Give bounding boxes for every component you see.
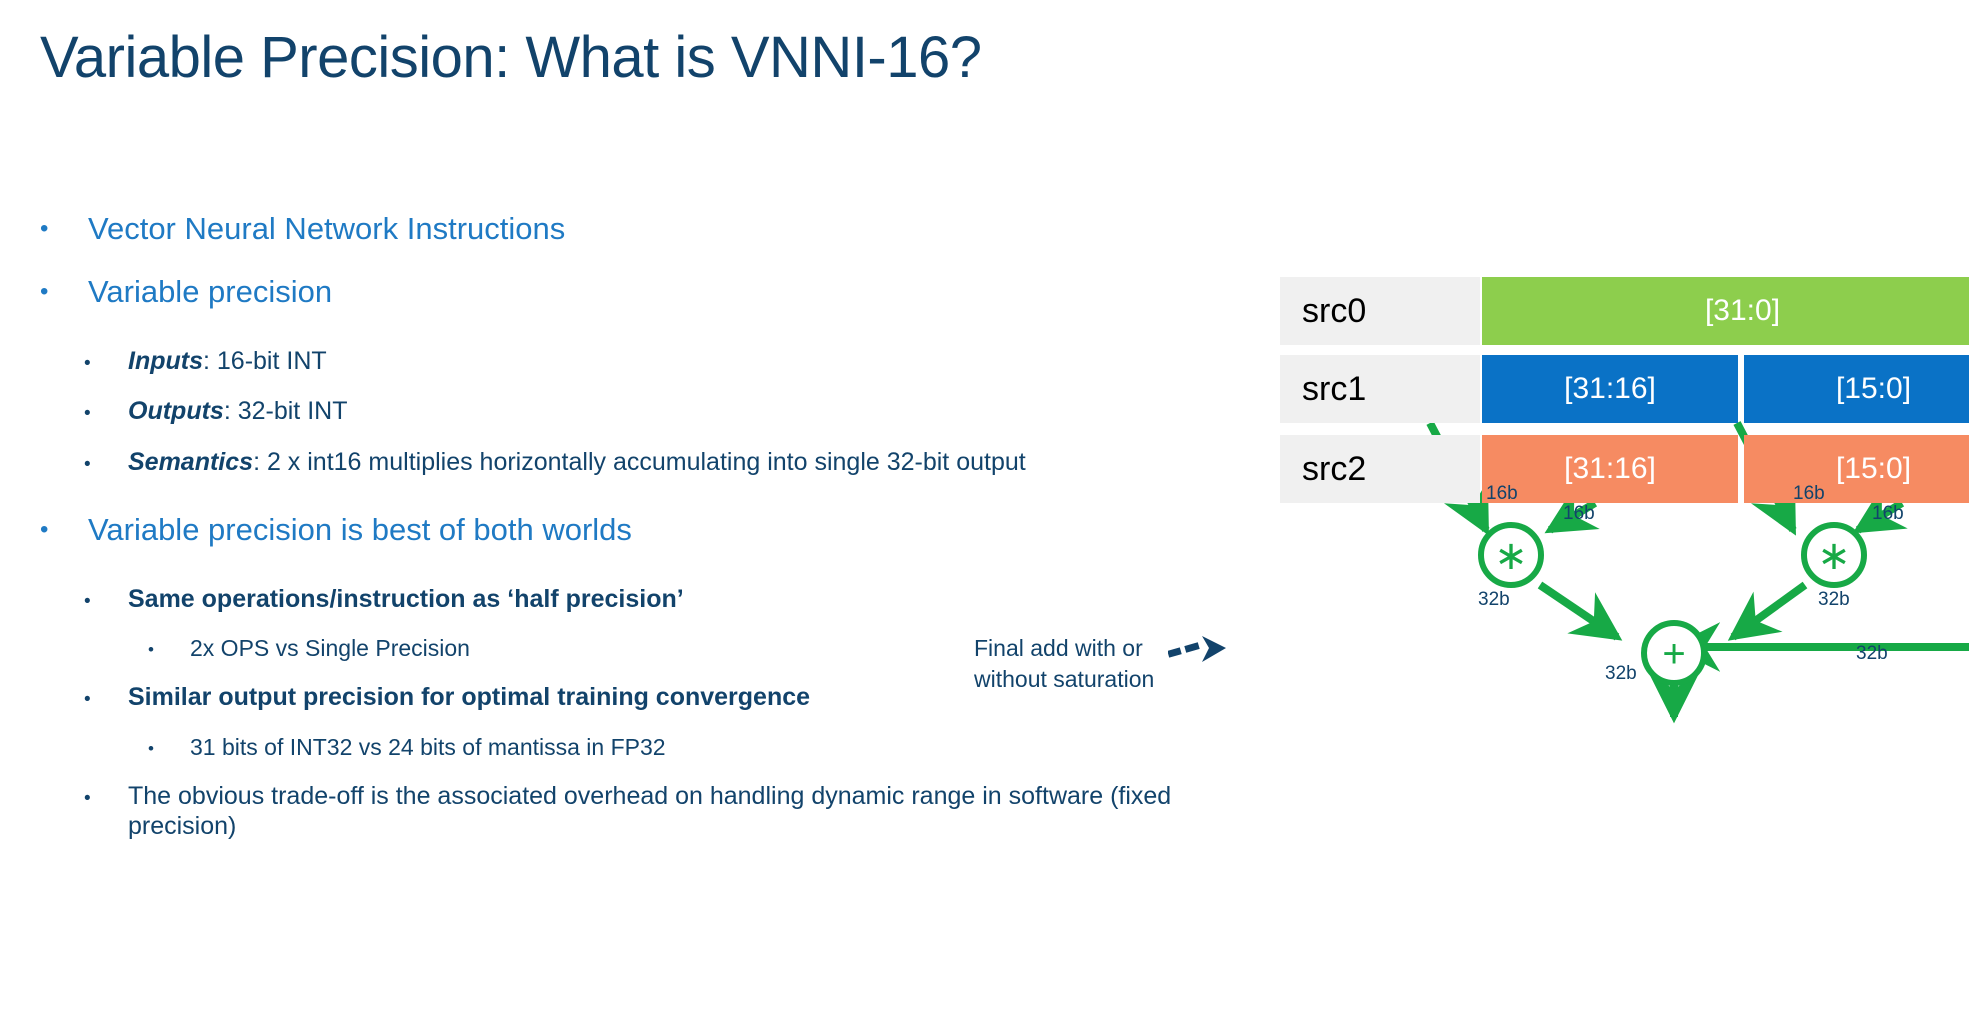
bullet-level2: • The obvious trade-off is the associate…: [0, 781, 1210, 842]
bullet-level1: • Variable precision is best of both wor…: [0, 511, 1210, 550]
bullet-dot-icon: •: [84, 690, 91, 709]
bullet-dot-icon: •: [84, 354, 91, 373]
plus-icon: +: [1662, 632, 1685, 676]
bullet-text: The obvious trade-off is the associated …: [128, 781, 1210, 842]
bullet-level1: • Vector Neural Network Instructions: [0, 210, 1210, 249]
bullet-lead: Inputs: [128, 347, 203, 375]
bullet-lead: Outputs: [128, 397, 224, 425]
bullet-rest: : 2 x int16 multiplies horizontally accu…: [253, 448, 1026, 476]
bullet-text: Vector Neural Network Instructions: [88, 210, 1210, 249]
bullet-text: Inputs: 16-bit INT: [128, 346, 1210, 377]
bullet-text: 31 bits of INT32 vs 24 bits of mantissa …: [190, 733, 1210, 761]
mul-right-to-add-wire: [1733, 585, 1805, 637]
bullet-rest: : 16-bit INT: [203, 347, 327, 375]
bits-label-accum-in: 32b: [1856, 643, 1888, 665]
bits-label-mul-left-out: 32b: [1478, 589, 1510, 611]
register-row-src2: src2 [31:16] [15:0]: [1280, 435, 1969, 503]
bullet-dot-icon: •: [84, 592, 91, 611]
mul-left-to-add-wire: [1540, 585, 1617, 637]
bullet-lead: Semantics: [128, 448, 253, 476]
src2-cell-31-16: [31:16]: [1482, 435, 1738, 503]
bullet-dot-icon: •: [40, 217, 48, 241]
final-add-caption: Final add with or without saturation: [974, 633, 1184, 695]
multiply-icon: ∗: [1817, 534, 1851, 578]
vnni-dataflow-diagram: ∗ ∗ + src0 [31:0] src1 [31:16] [15:0] sr…: [1180, 255, 1969, 725]
bullet-dot-icon: •: [40, 280, 48, 304]
bullet-text: Same operations/instruction as ‘half pre…: [128, 584, 1210, 615]
bits-label-result: 32b: [1605, 663, 1637, 685]
bullet-dot-icon: •: [84, 455, 91, 474]
src2-cell-15-0: [15:0]: [1744, 435, 1969, 503]
caption-line-1: Final add with or: [974, 633, 1184, 664]
src1-cell-15-0: [15:0]: [1744, 355, 1969, 423]
bits-label-src2-right: 16b: [1793, 483, 1825, 505]
bits-label-mul-right-in: 16b: [1872, 503, 1904, 525]
src0-cell-31-0: [31:0]: [1482, 277, 1969, 345]
bullet-text: Variable precision: [88, 273, 1210, 312]
multiply-icon: ∗: [1494, 534, 1528, 578]
bits-label-mul-left-in: 16b: [1563, 503, 1595, 525]
bullet-list: • Vector Neural Network Instructions • V…: [0, 210, 1210, 862]
caption-line-2: without saturation: [974, 664, 1184, 695]
bullet-dot-icon: •: [40, 518, 48, 542]
bullet-text: Outputs: 32-bit INT: [128, 396, 1210, 427]
register-label: src0: [1280, 277, 1480, 345]
bullet-level2: • Semantics: 2 x int16 multiplies horizo…: [0, 447, 1210, 478]
bullet-dot-icon: •: [148, 641, 154, 658]
dashed-arrow-icon: [1168, 632, 1232, 668]
register-row-src0: src0 [31:0]: [1280, 277, 1969, 345]
register-label: src1: [1280, 355, 1480, 423]
src1-cell-31-16: [31:16]: [1482, 355, 1738, 423]
bullet-dot-icon: •: [148, 740, 154, 757]
bits-label-mul-right-out: 32b: [1818, 589, 1850, 611]
bullet-rest: : 32-bit INT: [224, 397, 348, 425]
bits-label-src2-left: 16b: [1486, 483, 1518, 505]
register-label: src2: [1280, 435, 1480, 503]
bullet-dot-icon: •: [84, 789, 91, 808]
bullet-text: Semantics: 2 x int16 multiplies horizont…: [128, 447, 1210, 478]
bullet-level2: • Same operations/instruction as ‘half p…: [0, 584, 1210, 615]
bullet-dot-icon: •: [84, 404, 91, 423]
page-title: Variable Precision: What is VNNI-16?: [40, 24, 982, 91]
bullet-text: Variable precision is best of both world…: [88, 511, 1210, 550]
register-row-src1: src1 [31:16] [15:0]: [1280, 355, 1969, 423]
bullet-level3: • 31 bits of INT32 vs 24 bits of mantiss…: [0, 733, 1210, 761]
bullet-level2: • Inputs: 16-bit INT: [0, 346, 1210, 377]
bullet-level2: • Outputs: 32-bit INT: [0, 396, 1210, 427]
bullet-level1: • Variable precision: [0, 273, 1210, 312]
